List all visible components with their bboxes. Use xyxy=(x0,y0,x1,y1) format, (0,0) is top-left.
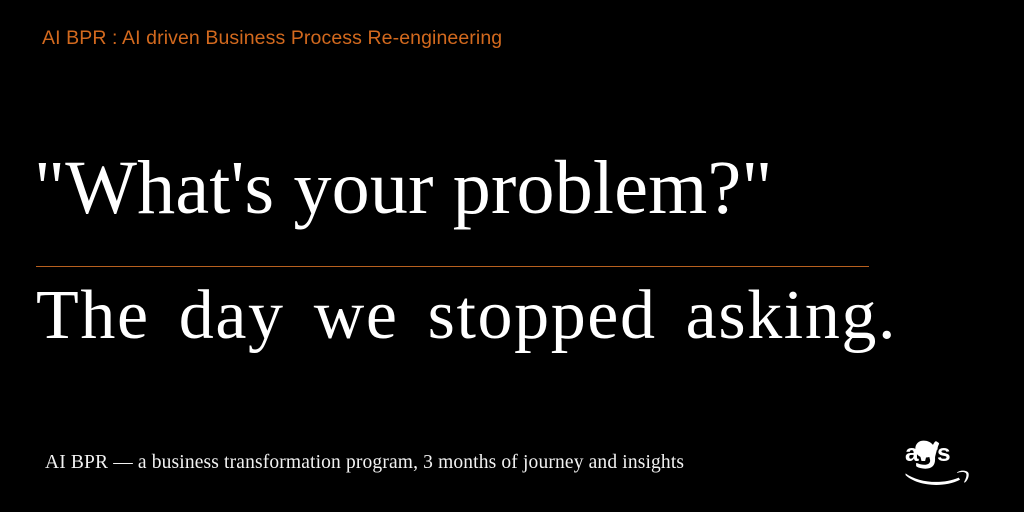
headline-divider xyxy=(36,266,869,267)
aws-logo-icon: aws xyxy=(903,436,995,488)
aws-logo: aws xyxy=(903,436,995,488)
headline-answer: The day we stopped asking. xyxy=(36,281,996,351)
slide-eyebrow-title: AI BPR : AI driven Business Process Re-e… xyxy=(42,27,502,50)
headline-quote: "What's your problem?" xyxy=(34,150,994,226)
svg-text:aws: aws xyxy=(905,440,950,467)
footer-caption: AI BPR — a business transformation progr… xyxy=(45,452,684,474)
presentation-slide: AI BPR : AI driven Business Process Re-e… xyxy=(0,0,1024,512)
